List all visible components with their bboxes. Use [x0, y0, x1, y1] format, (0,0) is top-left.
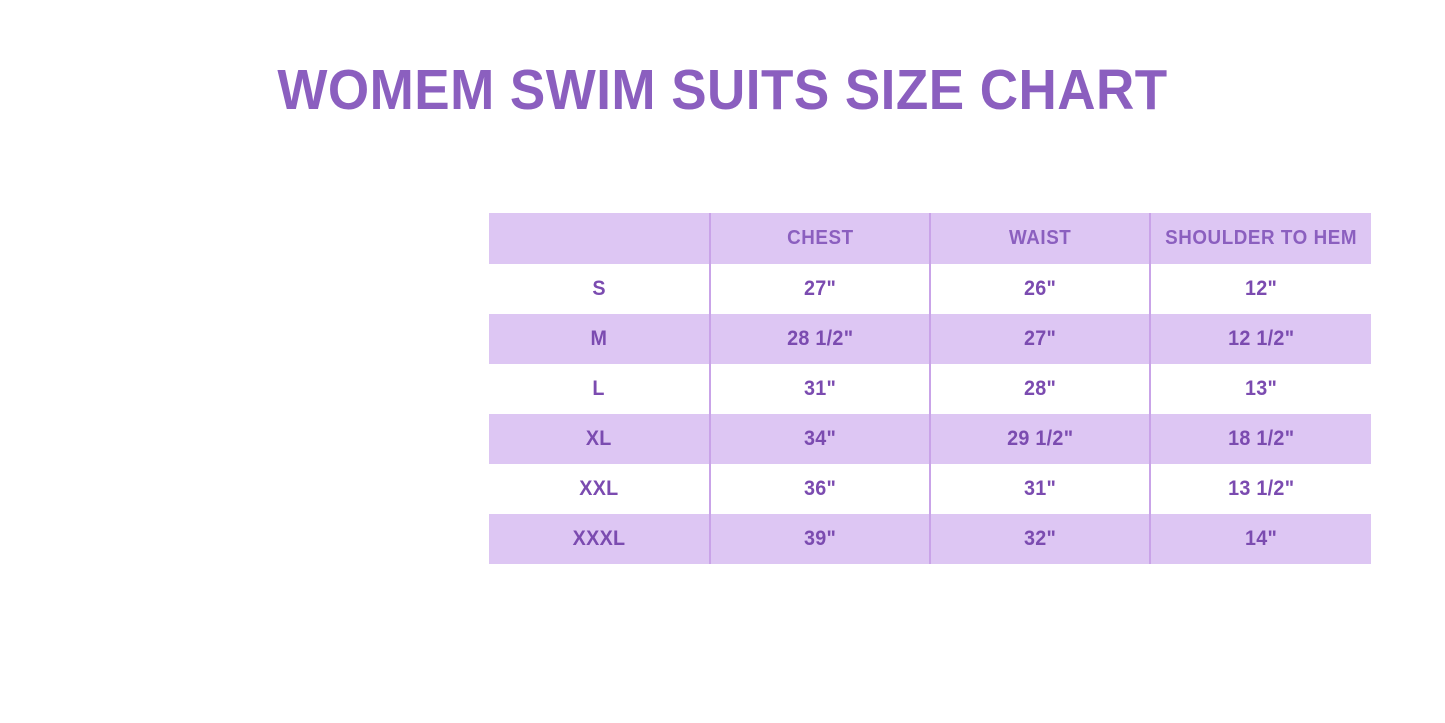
cell-shoulder-to-hem-label: 13": [1245, 377, 1277, 401]
cell-shoulder-to-hem: 13 1/2": [1150, 464, 1371, 514]
table-row: L 31" 28" 13": [489, 364, 1371, 414]
cell-chest: 34": [710, 414, 930, 464]
cell-size: M: [489, 314, 710, 364]
cell-waist: 32": [930, 514, 1150, 564]
size-chart-page: WOMEM SWIM SUITS SIZE CHART CHEST WAIST …: [0, 0, 1445, 723]
cell-shoulder-to-hem: 14": [1150, 514, 1371, 564]
cell-size: XXXL: [489, 514, 710, 564]
cell-waist-label: 27": [1024, 327, 1056, 351]
column-header-shoulder-to-hem: SHOULDER TO HEM: [1150, 213, 1371, 264]
cell-size-label: XXXL: [573, 527, 626, 551]
cell-size-label: XL: [586, 427, 612, 451]
cell-size-label: XXL: [579, 477, 618, 501]
table-header-row: CHEST WAIST SHOULDER TO HEM: [489, 213, 1371, 264]
cell-chest: 28 1/2": [710, 314, 930, 364]
table-row: M 28 1/2" 27" 12 1/2": [489, 314, 1371, 364]
cell-size: XXL: [489, 464, 710, 514]
cell-size: XL: [489, 414, 710, 464]
column-header-chest-label: CHEST: [787, 227, 854, 250]
cell-size: S: [489, 264, 710, 314]
cell-shoulder-to-hem: 12": [1150, 264, 1371, 314]
cell-waist: 31": [930, 464, 1150, 514]
cell-chest-label: 27": [804, 277, 836, 301]
cell-waist: 29 1/2": [930, 414, 1150, 464]
cell-size-label: L: [593, 377, 605, 401]
cell-shoulder-to-hem: 13": [1150, 364, 1371, 414]
cell-waist-label: 28": [1024, 377, 1056, 401]
cell-waist-label: 29 1/2": [1007, 427, 1073, 451]
size-chart-table: CHEST WAIST SHOULDER TO HEM S 27" 26" 12…: [489, 213, 1371, 564]
cell-waist: 26": [930, 264, 1150, 314]
cell-waist: 27": [930, 314, 1150, 364]
cell-waist-label: 26": [1024, 277, 1056, 301]
table-header: CHEST WAIST SHOULDER TO HEM: [489, 213, 1371, 264]
cell-shoulder-to-hem: 12 1/2": [1150, 314, 1371, 364]
cell-chest-label: 39": [804, 527, 836, 551]
cell-shoulder-to-hem-label: 13 1/2": [1228, 477, 1294, 501]
cell-chest: 36": [710, 464, 930, 514]
cell-chest: 39": [710, 514, 930, 564]
table-body: S 27" 26" 12" M 28 1/2" 27" 12 1/2" L 31…: [489, 264, 1371, 564]
cell-shoulder-to-hem-label: 12": [1245, 277, 1277, 301]
cell-shoulder-to-hem-label: 12 1/2": [1228, 327, 1294, 351]
column-header-waist: WAIST: [930, 213, 1150, 264]
column-header-shoulder-to-hem-label: SHOULDER TO HEM: [1165, 227, 1357, 250]
cell-size-label: S: [592, 277, 605, 301]
cell-chest-label: 28 1/2": [787, 327, 853, 351]
cell-chest: 31": [710, 364, 930, 414]
cell-size: L: [489, 364, 710, 414]
column-header-size: [489, 213, 710, 264]
cell-size-label: M: [591, 327, 608, 351]
page-title: WOMEM SWIM SUITS SIZE CHART: [51, 54, 1395, 126]
table-row: S 27" 26" 12": [489, 264, 1371, 314]
table-row: XXL 36" 31" 13 1/2": [489, 464, 1371, 514]
cell-chest-label: 34": [804, 427, 836, 451]
cell-chest: 27": [710, 264, 930, 314]
cell-chest-label: 36": [804, 477, 836, 501]
cell-shoulder-to-hem-label: 18 1/2": [1228, 427, 1294, 451]
cell-waist-label: 32": [1024, 527, 1056, 551]
cell-chest-label: 31": [804, 377, 836, 401]
column-header-chest: CHEST: [710, 213, 930, 264]
cell-shoulder-to-hem-label: 14": [1245, 527, 1277, 551]
cell-waist-label: 31": [1024, 477, 1056, 501]
cell-waist: 28": [930, 364, 1150, 414]
table-row: XXXL 39" 32" 14": [489, 514, 1371, 564]
column-header-waist-label: WAIST: [1009, 227, 1071, 250]
cell-shoulder-to-hem: 18 1/2": [1150, 414, 1371, 464]
table-row: XL 34" 29 1/2" 18 1/2": [489, 414, 1371, 464]
